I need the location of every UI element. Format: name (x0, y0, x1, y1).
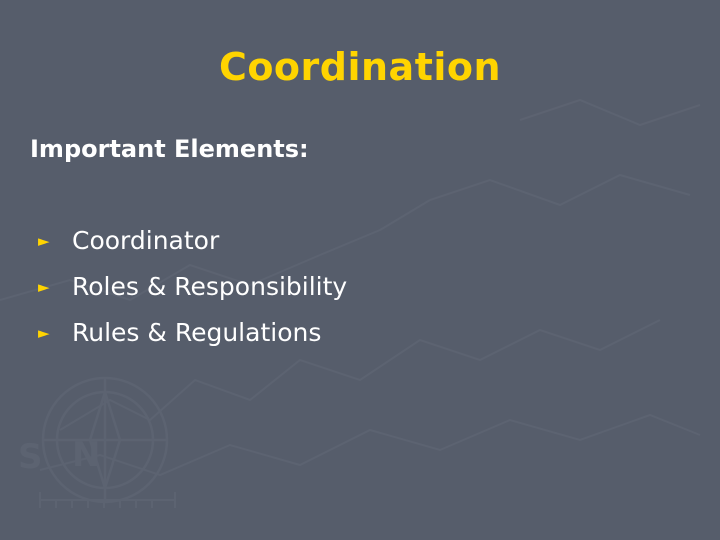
bullet-arrow-icon: ► (30, 314, 72, 352)
list-item: ► Roles & Responsibility (30, 268, 670, 306)
list-item-label: Rules & Regulations (72, 314, 321, 352)
list-item-label: Roles & Responsibility (72, 268, 347, 306)
list-item-label: Coordinator (72, 222, 219, 260)
bullet-arrow-icon: ► (30, 268, 72, 306)
list-item: ► Rules & Regulations (30, 314, 670, 352)
page-title: Coordination (0, 44, 720, 90)
bullet-list: ► Coordinator ► Roles & Responsibility ►… (30, 222, 670, 360)
svg-text:S: S (18, 437, 43, 477)
slide: S N Coordination Important Elements: ► C… (0, 0, 720, 540)
svg-text:N: N (72, 435, 100, 475)
bullet-arrow-icon: ► (30, 222, 72, 260)
subtitle-heading: Important Elements: (30, 132, 309, 166)
list-item: ► Coordinator (30, 222, 670, 260)
